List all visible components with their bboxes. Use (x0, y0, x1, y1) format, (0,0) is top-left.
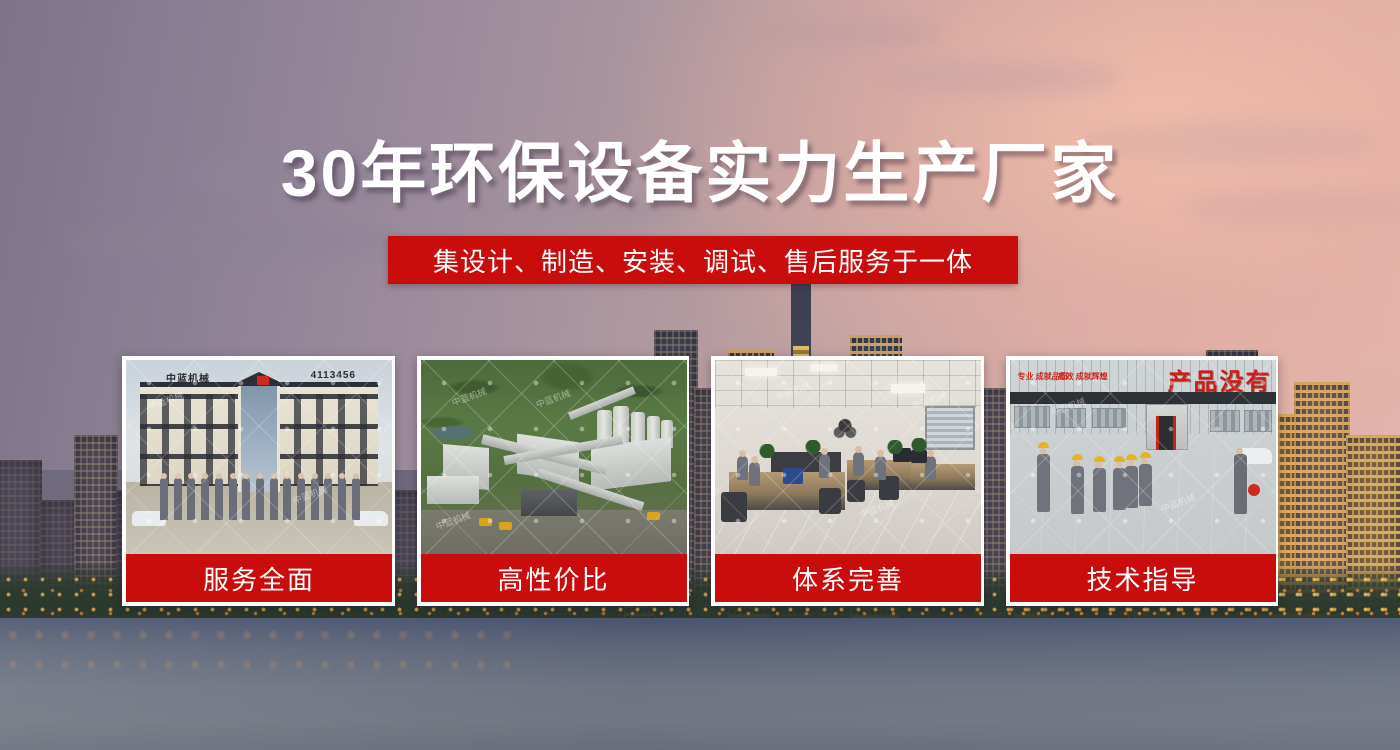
card-photo-factory-yard: 产品没有 专业 成就品质 高效 成就辉煌 (1010, 360, 1276, 554)
card-photo-office-interior: 中蓝机械 中蓝机械 中蓝机械 (715, 360, 981, 554)
feature-card-list: 中蓝机械 4113456 中蓝机械 中蓝机械 服务全面 (122, 356, 1278, 606)
subtitle-text: 集设计、制造、安装、调试、售后服务于一体 (433, 242, 973, 279)
subtitle-banner: 集设计、制造、安装、调试、售后服务于一体 (388, 236, 1018, 284)
page-title: 30年环保设备实力生产厂家 (0, 136, 1400, 210)
card-caption-value: 高性价比 (421, 554, 687, 602)
river-reflections (0, 620, 520, 680)
card-photo-aerial-plant: 中蓝机械 中蓝机械 中蓝机械 (421, 360, 687, 554)
wall-slogan-small-2: 高效 成就辉煌 (1058, 372, 1108, 382)
building-signage: 中蓝机械 (166, 370, 210, 385)
feature-card-value[interactable]: 中蓝机械 中蓝机械 中蓝机械 高性价比 (417, 356, 690, 606)
feature-card-system[interactable]: 中蓝机械 中蓝机械 中蓝机械 体系完善 (711, 356, 984, 606)
card-caption-guidance: 技术指导 (1010, 554, 1276, 602)
card-caption-service: 服务全面 (126, 554, 392, 602)
card-caption-system: 体系完善 (715, 554, 981, 602)
building-phone: 4113456 (311, 370, 356, 381)
card-photo-office-building: 中蓝机械 4113456 中蓝机械 中蓝机械 (126, 360, 392, 554)
banner-stage: 30年环保设备实力生产厂家 集设计、制造、安装、调试、售后服务于一体 中蓝机械 … (0, 0, 1400, 750)
feature-card-guidance[interactable]: 产品没有 专业 成就品质 高效 成就辉煌 (1006, 356, 1279, 606)
feature-card-service[interactable]: 中蓝机械 4113456 中蓝机械 中蓝机械 服务全面 (122, 356, 395, 606)
